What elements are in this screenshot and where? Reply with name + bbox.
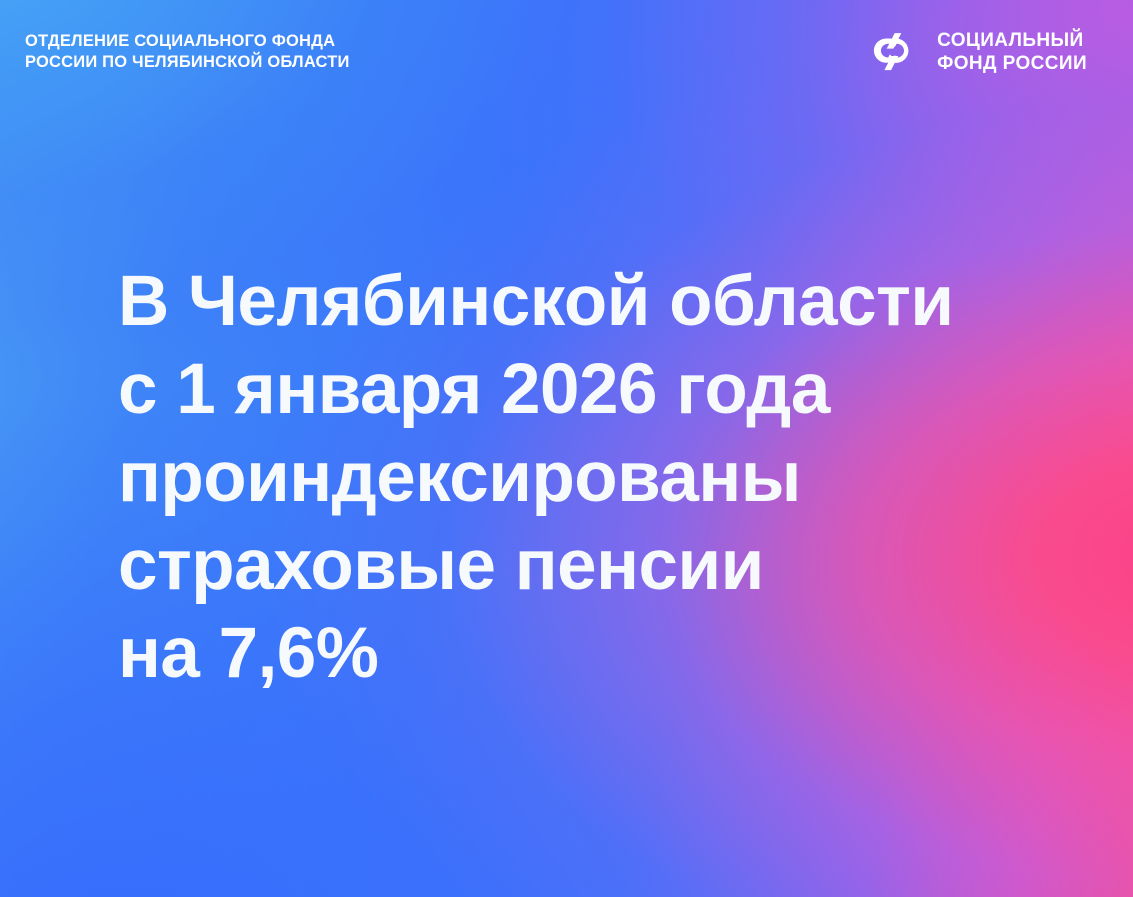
- organization-title: ОТДЕЛЕНИЕ СОЦИАЛЬНОГО ФОНДА РОССИИ ПО ЧЕ…: [25, 31, 350, 73]
- brand-lockup: СОЦИАЛЬНЫЙ ФОНД РОССИИ: [865, 24, 1087, 80]
- poster-canvas: ОТДЕЛЕНИЕ СОЦИАЛЬНОГО ФОНДА РОССИИ ПО ЧЕ…: [0, 0, 1133, 897]
- sfr-monogram-icon: [865, 24, 921, 80]
- brand-name: СОЦИАЛЬНЫЙ ФОНД РОССИИ: [937, 29, 1087, 75]
- poster-header: ОТДЕЛЕНИЕ СОЦИАЛЬНОГО ФОНДА РОССИИ ПО ЧЕ…: [0, 0, 1133, 110]
- page-title: В Челябинской области с 1 января 2026 го…: [118, 258, 1108, 698]
